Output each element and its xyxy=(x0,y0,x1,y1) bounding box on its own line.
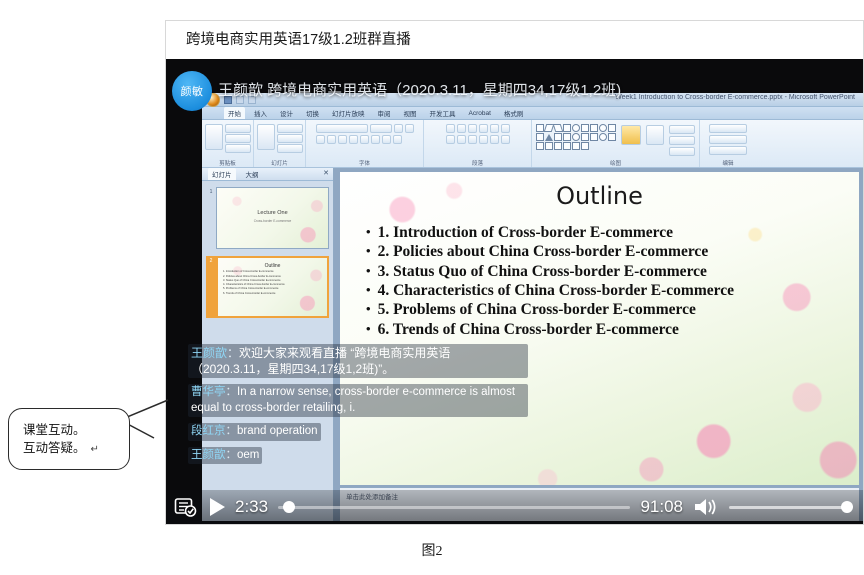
shape-arrow-icon[interactable] xyxy=(553,124,564,132)
numbering-button[interactable] xyxy=(457,124,466,133)
figure-caption: 图2 xyxy=(0,540,864,560)
slide-bullet-text: 4. Characteristics of China Cross-border… xyxy=(378,282,734,299)
ribbon-tab-acrobat[interactable]: Acrobat xyxy=(469,110,491,117)
ribbon-group-label: 绘图 xyxy=(532,159,699,167)
shape-oval-icon[interactable] xyxy=(572,124,580,132)
chat-text: In a narrow sense, cross-border e-commer… xyxy=(191,386,515,414)
slide-bullet: • 5. Problems of China Cross-border E-co… xyxy=(366,301,845,318)
shape-arc-icon[interactable] xyxy=(554,142,562,150)
ribbon-tab-format[interactable]: 格式刷 xyxy=(504,108,524,118)
avatar[interactable]: 颜敏 xyxy=(172,71,212,111)
chat-text: brand operation xyxy=(237,425,318,437)
ribbon-group-slides[interactable]: 幻灯片 xyxy=(254,120,306,167)
shape-box-icon[interactable] xyxy=(581,124,589,132)
layout-button[interactable] xyxy=(277,124,303,133)
ribbon-tab-view[interactable]: 视图 xyxy=(404,108,417,118)
align-right-button[interactable] xyxy=(468,135,477,144)
annotation-line-1: 课堂互动。 xyxy=(23,421,129,439)
chat-username: 曹华亭 xyxy=(191,386,226,398)
cut-button[interactable] xyxy=(225,124,251,133)
thumbnail-title: Lecture One xyxy=(217,210,328,216)
font-color-button[interactable] xyxy=(393,135,402,144)
ribbon-tab-developer[interactable]: 开发工具 xyxy=(430,108,456,118)
bullet-icon: • xyxy=(366,282,371,298)
find-button[interactable] xyxy=(709,124,747,133)
shape-banner-icon[interactable] xyxy=(608,133,616,141)
change-case-button[interactable] xyxy=(382,135,391,144)
shape-curve-icon[interactable] xyxy=(545,142,553,150)
reset-button[interactable] xyxy=(277,134,303,143)
chat-message: 曹华亭：In a narrow sense, cross-border e-co… xyxy=(188,384,528,417)
ribbon-group-label: 段落 xyxy=(424,159,531,167)
bullet-icon: • xyxy=(366,224,371,240)
font-family-select[interactable] xyxy=(316,124,368,133)
select-button[interactable] xyxy=(709,146,747,155)
chat-separator: ： xyxy=(227,346,239,360)
shape-triangle-icon[interactable] xyxy=(545,133,553,141)
shape-brace-left-icon[interactable] xyxy=(563,142,571,150)
columns-button[interactable] xyxy=(490,135,499,144)
thumbnail-number: 1 xyxy=(206,187,216,249)
shape-pentagon-icon[interactable] xyxy=(581,133,589,141)
thumbnail-slide-1[interactable]: 1 Lecture One Cross-border E-commerce xyxy=(206,187,329,249)
replace-button[interactable] xyxy=(709,135,747,144)
thumbnail-title: Outline xyxy=(218,263,327,269)
slide-bullet: • 6. Trends of China Cross-border E-comm… xyxy=(366,321,845,338)
delete-slide-button[interactable] xyxy=(277,144,303,153)
align-center-button[interactable] xyxy=(457,135,466,144)
thumbnail-bullet: 1. Introduction of Cross-border E-commer… xyxy=(223,270,327,273)
decrease-indent-button[interactable] xyxy=(468,124,477,133)
progress-bar[interactable] xyxy=(278,506,630,509)
character-spacing-button[interactable] xyxy=(371,135,380,144)
ribbon-tab-bar[interactable]: 开始 插入 设计 切换 幻灯片放映 审阅 视图 开发工具 Acrobat 格式刷 xyxy=(202,107,863,120)
arrange-button[interactable] xyxy=(621,125,641,145)
ribbon-group-editing[interactable]: 编辑 xyxy=(700,120,756,167)
stream-title: 跨境电商实用英语17级1.2班群直播 xyxy=(166,21,863,59)
ribbon-tab-transitions[interactable]: 切换 xyxy=(306,108,319,118)
shape-effects-button[interactable] xyxy=(669,147,695,156)
chat-separator: ： xyxy=(226,386,238,398)
shape-circle-icon[interactable] xyxy=(599,124,607,132)
bullet-icon: • xyxy=(366,263,371,279)
powerpoint-document-title: Week1 Introduction to Cross-border E-com… xyxy=(615,94,855,101)
ribbon[interactable]: 剪贴板 幻灯片 xyxy=(202,120,863,168)
ribbon-group-label: 幻灯片 xyxy=(254,159,305,167)
thumbnail-preview[interactable]: Outline 1. Introduction of Cross-border … xyxy=(216,256,329,318)
chat-separator: ： xyxy=(226,425,238,437)
shape-gallery[interactable] xyxy=(536,122,616,150)
progress-knob[interactable] xyxy=(283,501,295,513)
ribbon-group-label: 编辑 xyxy=(700,159,756,167)
slide-bullet: • 2. Policies about China Cross-border E… xyxy=(366,243,845,260)
video-player-controls[interactable]: 2:33 91:08 xyxy=(166,490,863,524)
ribbon-group-clipboard[interactable]: 剪贴板 xyxy=(202,120,254,167)
ribbon-group-paragraph[interactable]: 段落 xyxy=(424,120,532,167)
shape-bracket-icon[interactable] xyxy=(563,133,571,141)
close-icon[interactable]: ✕ xyxy=(323,170,329,178)
annotation-line-2: 互动答疑。 xyxy=(23,439,86,457)
ribbon-group-font[interactable]: 字体 xyxy=(306,120,424,167)
shape-elbow-icon[interactable] xyxy=(554,133,562,141)
strikethrough-button[interactable] xyxy=(360,135,369,144)
slide-bullet-text: 2. Policies about China Cross-border E-c… xyxy=(378,243,709,260)
new-slide-button[interactable] xyxy=(257,124,275,150)
shape-square-icon[interactable] xyxy=(563,124,571,132)
paste-button[interactable] xyxy=(205,124,223,150)
thumbnail-bullet: 2. Policies about China Cross-border E-c… xyxy=(223,275,327,278)
chat-username: 段红京 xyxy=(191,425,226,437)
italic-button[interactable] xyxy=(327,135,336,144)
volume-icon[interactable] xyxy=(693,497,719,517)
increase-font-size-button[interactable] xyxy=(394,124,403,133)
bold-button[interactable] xyxy=(316,135,325,144)
slide-bullet: • 1. Introduction of Cross-border E-comm… xyxy=(366,224,845,241)
ribbon-tab-insert[interactable]: 插入 xyxy=(254,108,267,118)
figure-container: 跨境电商实用英语17级1.2班群直播 Week1 Introduction to… xyxy=(165,20,864,525)
slide-bullet: • 3. Status Quo of China Cross-border E-… xyxy=(366,263,845,280)
shape-callout-icon[interactable] xyxy=(608,124,616,132)
volume-knob[interactable] xyxy=(841,501,853,513)
ribbon-tab-start[interactable]: 开始 xyxy=(224,107,245,119)
shadow-button[interactable] xyxy=(349,135,358,144)
align-left-button[interactable] xyxy=(446,135,455,144)
slide-title: Outline xyxy=(340,182,859,210)
play-button[interactable] xyxy=(210,498,225,516)
copy-button[interactable] xyxy=(225,134,251,143)
slide-bullet-text: 3. Status Quo of China Cross-border E-co… xyxy=(378,263,707,280)
bullet-icon: • xyxy=(366,301,371,317)
shape-more-icon[interactable] xyxy=(581,142,589,150)
stream-banner-text: 王颜歆 跨境电商实用英语（2020.3.11，星期四34,17级1,2班) xyxy=(218,79,621,100)
slide-bullet-list: • 1. Introduction of Cross-border E-comm… xyxy=(366,224,845,338)
bullet-icon: • xyxy=(366,243,371,259)
thumbnail-bullet: 4. Characteristics of China Cross-border… xyxy=(223,283,327,286)
shape-smiley-icon[interactable] xyxy=(599,133,607,141)
ribbon-group-drawing[interactable]: 绘图 xyxy=(532,120,700,167)
text-direction-button[interactable] xyxy=(501,124,510,133)
volume-slider[interactable] xyxy=(729,506,847,509)
ribbon-tab-review[interactable]: 审阅 xyxy=(378,108,391,118)
quick-styles-button[interactable] xyxy=(646,125,664,145)
document-check-icon[interactable] xyxy=(174,496,198,518)
convert-smartart-button[interactable] xyxy=(501,135,510,144)
shape-outline-button[interactable] xyxy=(669,136,695,145)
total-time-label: 91:08 xyxy=(640,497,683,517)
shape-donut-icon[interactable] xyxy=(572,133,580,141)
shape-brace-right-icon[interactable] xyxy=(572,142,580,150)
shape-star-icon[interactable] xyxy=(590,133,598,141)
thumbnail-number: 2 xyxy=(206,256,216,318)
thumbnail-slide-2[interactable]: 2 Outline 1. Introduction of Cross-borde… xyxy=(206,256,329,318)
current-time-label: 2:33 xyxy=(235,497,268,517)
slide-bullet-text: 1. Introduction of Cross-border E-commer… xyxy=(378,224,673,241)
ribbon-group-label: 字体 xyxy=(306,159,423,167)
ribbon-tab-slideshow[interactable]: 幻灯片放映 xyxy=(332,108,365,118)
video-stage[interactable]: Week1 Introduction to Cross-border E-com… xyxy=(166,59,863,524)
chat-username: 王颜歆 xyxy=(191,346,227,360)
justify-button[interactable] xyxy=(479,135,488,144)
shape-fill-button[interactable] xyxy=(669,125,695,134)
slide-bullet: • 4. Characteristics of China Cross-bord… xyxy=(366,282,845,299)
ribbon-group-label: 剪贴板 xyxy=(202,159,253,167)
decrease-font-size-button[interactable] xyxy=(405,124,414,133)
chat-message: 段红京：brand operation xyxy=(188,423,321,441)
pilcrow-icon: ↵ xyxy=(91,443,99,458)
increase-indent-button[interactable] xyxy=(479,124,488,133)
bullets-button[interactable] xyxy=(446,124,455,133)
ribbon-tab-design[interactable]: 设计 xyxy=(280,108,293,118)
bullet-icon: • xyxy=(366,321,371,337)
chat-username: 王颜歆 xyxy=(191,449,226,461)
chat-overlay: 王颜歆：欢迎大家来观看直播 “跨境电商实用英语（2020.3.11，星期四34,… xyxy=(188,344,528,470)
shape-freeform-icon[interactable] xyxy=(536,142,544,150)
chat-separator: ： xyxy=(226,449,238,461)
line-spacing-button[interactable] xyxy=(490,124,499,133)
chat-message: 王颜歆：欢迎大家来观看直播 “跨境电商实用英语（2020.3.11，星期四34,… xyxy=(188,344,528,378)
thumbnail-bullet: 3. Status Quo of China Cross-border E-co… xyxy=(223,279,327,282)
shape-rounded-icon[interactable] xyxy=(536,133,544,141)
thumbnail-preview[interactable]: Lecture One Cross-border E-commerce xyxy=(216,187,329,249)
chat-text: oem xyxy=(237,449,259,461)
font-size-select[interactable] xyxy=(370,124,392,133)
tab-outline[interactable]: 大纲 xyxy=(242,168,263,180)
thumbnail-bullet: 6. Trends of China Cross-border E-commer… xyxy=(223,292,327,295)
underline-button[interactable] xyxy=(338,135,347,144)
shape-frame-icon[interactable] xyxy=(590,124,598,132)
slide-bullet-text: 6. Trends of China Cross-border E-commer… xyxy=(378,321,679,338)
slide-bullet-text: 5. Problems of China Cross-border E-comm… xyxy=(378,301,696,318)
format-painter-button[interactable] xyxy=(225,144,251,153)
thumbnail-tab-bar[interactable]: 幻灯片 大纲 ✕ xyxy=(202,168,333,181)
thumbnail-bullet: 5. Problems of China Cross-border E-comm… xyxy=(223,287,327,290)
tab-slides[interactable]: 幻灯片 xyxy=(208,168,236,180)
thumbnail-subtitle: Cross-border E-commerce xyxy=(217,219,328,223)
chat-message: 王颜歆：oem xyxy=(188,447,262,465)
annotation-callout: 课堂互动。 互动答疑。 ↵ xyxy=(8,408,130,470)
